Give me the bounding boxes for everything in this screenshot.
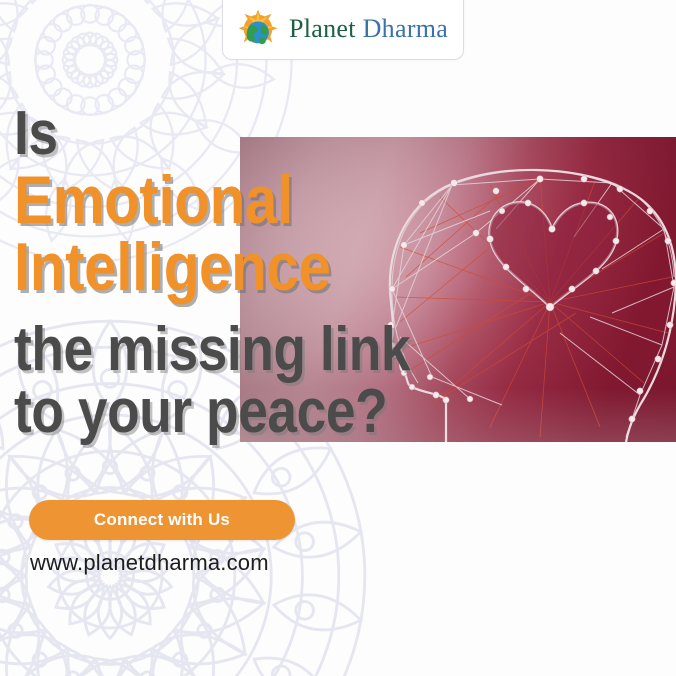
poster-canvas: Planet Dharma — [0, 0, 676, 676]
headline-block: Is Emotional Intelligence the missing li… — [14, 104, 434, 443]
headline-line-2: Emotional — [14, 168, 375, 233]
brand-wordmark: Planet Dharma — [289, 14, 448, 44]
connect-with-us-button[interactable]: Connect with Us — [29, 500, 295, 540]
headline-line-4: the missing link — [14, 320, 375, 380]
brand-name-dharma: Dharma — [363, 14, 449, 43]
sun-earth-logo-icon — [237, 8, 279, 50]
brand-logo-box[interactable]: Planet Dharma — [222, 0, 464, 60]
headline-line-3: Intelligence — [14, 235, 375, 300]
cta-label: Connect with Us — [94, 510, 230, 530]
headline-line-5: to your peace? — [14, 382, 375, 442]
headline-line-1: Is — [14, 104, 375, 164]
brand-name-planet: Planet — [289, 14, 356, 43]
website-url[interactable]: www.planetdharma.com — [30, 550, 269, 576]
